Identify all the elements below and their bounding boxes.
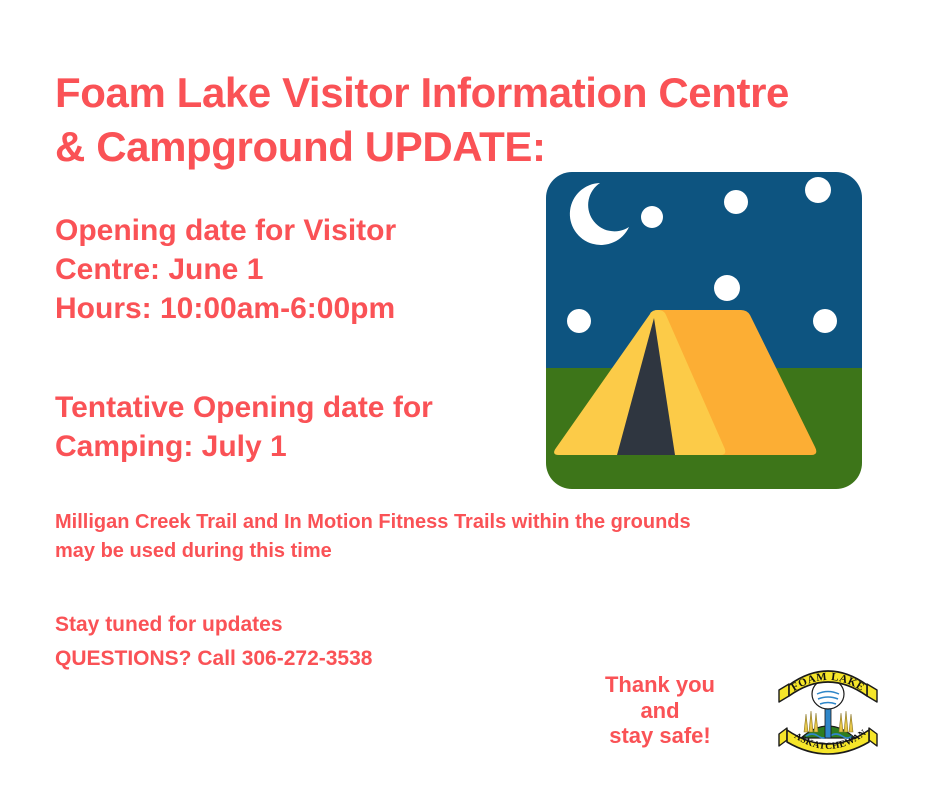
star-icon xyxy=(805,177,831,203)
thank-you-line-1: Thank you xyxy=(560,672,760,698)
thank-you-line-3: stay safe! xyxy=(560,723,760,749)
questions-phone-line: QUESTIONS? Call 306-272-3538 xyxy=(55,642,655,676)
thank-you-line-2: and xyxy=(560,698,760,724)
camping-opening-info: Tentative Opening date for Camping: July… xyxy=(55,388,525,466)
contact-info: Stay tuned for updates QUESTIONS? Call 3… xyxy=(55,608,655,675)
trails-note-line-1: Milligan Creek Trail and In Motion Fitne… xyxy=(55,508,885,537)
camping-line-1: Tentative Opening date for xyxy=(55,388,525,427)
crest-wheat-left xyxy=(804,711,818,732)
stay-tuned-line: Stay tuned for updates xyxy=(55,608,655,642)
star-icon xyxy=(714,275,740,301)
poster-canvas: Foam Lake Visitor Information Centre & C… xyxy=(0,0,940,788)
star-icon xyxy=(567,309,591,333)
camping-tent-night-illustration xyxy=(546,172,862,489)
visitor-centre-opening-info: Opening date for Visitor Centre: June 1 … xyxy=(55,211,525,328)
opening-line-1: Opening date for Visitor xyxy=(55,211,525,250)
page-title-line-1: Foam Lake Visitor Information Centre xyxy=(55,66,885,120)
star-icon xyxy=(813,309,837,333)
town-of-foam-lake-crest: FOAM LAKE SASKATCHEWAN xyxy=(773,666,883,766)
crest-wheat-right xyxy=(839,711,853,732)
star-icon xyxy=(724,190,748,214)
opening-hours-line: Hours: 10:00am-6:00pm xyxy=(55,289,525,328)
page-title: Foam Lake Visitor Information Centre & C… xyxy=(55,66,885,174)
page-title-line-2: & Campground UPDATE: xyxy=(55,120,885,174)
trails-note-line-2: may be used during this time xyxy=(55,537,885,566)
camping-line-2: Camping: July 1 xyxy=(55,427,525,466)
trails-note: Milligan Creek Trail and In Motion Fitne… xyxy=(55,508,885,566)
star-icon xyxy=(641,206,663,228)
opening-line-2: Centre: June 1 xyxy=(55,250,525,289)
thank-you-message: Thank you and stay safe! xyxy=(560,672,760,749)
